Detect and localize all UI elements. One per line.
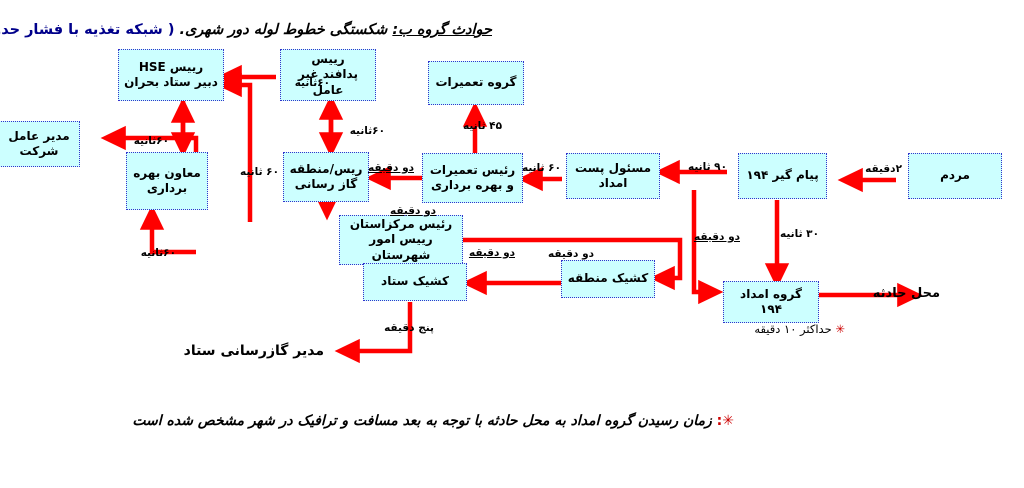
node-province-line1: رئیس مرکزاستان	[342, 217, 460, 232]
diagram-canvas: حوادث گروه ب: شکستگی خطوط لوله دور شهری.…	[0, 0, 1024, 488]
duration-province-to-region-duty: دو دقیقه	[469, 247, 515, 259]
node-repair-group-line1: گروه تعمیرات	[435, 75, 516, 90]
arrow-province-to-deputy	[152, 210, 196, 252]
node-md-line2: شرکت	[8, 144, 69, 159]
node-relief-team[interactable]: گروه امداد ۱۹۴	[723, 281, 819, 323]
title-middle: شکستگی خطوط لوله دور شهری.	[174, 22, 392, 38]
node-hse[interactable]: رییس HSE دبیر ستاد بحران	[118, 49, 224, 101]
node-padafand[interactable]: رییس پدافند غیر عامل	[280, 49, 376, 101]
duration-deputy-to-md: ۶۰ثانیه	[134, 135, 169, 147]
node-region-gas-line2: گاز رسانی	[290, 177, 363, 192]
node-province-line2: ریيس امور شهرستان	[342, 232, 460, 263]
node-region-duty[interactable]: كشيک منطقه	[561, 260, 655, 298]
node-answering-machine[interactable]: پیام گیر ۱۹۴	[738, 153, 827, 199]
duration-province-to-deputy: ۶۰ثانیه	[141, 247, 176, 259]
node-hse-line2: دبیر ستاد بحران	[124, 75, 218, 90]
note-max-time: ✳ حداکثر ۱۰ دقیقه	[754, 322, 845, 336]
node-relief-team-line1: گروه امداد	[740, 287, 802, 302]
node-repair-ops-line2: و بهره برداری	[430, 178, 515, 193]
duration-answering-to-relief-team: ۳۰ ثانیه	[780, 228, 819, 240]
node-deputy-line2: برداری	[133, 181, 201, 196]
arrow-province-to-hse	[222, 85, 250, 222]
node-province-city-chief[interactable]: رئیس مرکزاستان ریيس امور شهرستان	[339, 215, 463, 265]
node-deputy-line1: معاون بهره	[133, 166, 201, 181]
node-hq-duty[interactable]: كشيک ستاد	[363, 263, 467, 301]
footer-asterisk-icon: ✳:	[717, 413, 734, 429]
duration-region-duty-to-hq-duty: دو دقیقه	[548, 248, 594, 260]
node-people-line1: مردم	[940, 168, 970, 183]
duration-region-gas-to-padafand: ۶۰ثانیه	[350, 125, 385, 137]
duration-padafand-to-hse: ۶۰ثانیه	[295, 77, 330, 89]
node-relief-post-line2: امداد	[575, 176, 651, 191]
node-region-gas-line1: ریس/منطقه	[290, 162, 363, 177]
title-lead: حوادث گروه ب:	[392, 22, 492, 38]
duration-region-gas-to-province-side: ۶۰ ثانیه	[240, 166, 279, 178]
node-deputy-operations[interactable]: معاون بهره برداری	[126, 152, 208, 210]
duration-people-to-answering: ۲دقیقه	[865, 163, 902, 175]
node-answering-line1: پیام گیر ۱۹۴	[746, 168, 818, 183]
duration-repair-ops-to-region-gas: دو دقیقه	[368, 162, 414, 174]
duration-relief-post-to-repair-ops: ۶۰ ثانیه	[522, 162, 561, 174]
asterisk-icon: ✳	[835, 322, 845, 336]
node-managing-director[interactable]: مدیر عامل شرکت	[0, 121, 80, 167]
node-hse-line1: رییس HSE	[124, 60, 218, 75]
node-people[interactable]: مردم	[908, 153, 1002, 199]
node-relief-team-line2: ۱۹۴	[740, 302, 802, 317]
title-accent: ( شبکه تغذیه با فشار حدود 250psi )	[0, 22, 174, 38]
duration-relief-post-to-relief-team: دو دقیقه	[694, 231, 740, 243]
node-hq-gas-manager: مدیر گازرسانی ستاد	[184, 343, 324, 359]
duration-hq-duty-to-manager: پنج دقیقه	[384, 322, 434, 334]
node-md-line1: مدیر عامل	[8, 129, 69, 144]
footer-note: ✳: زمان رسیدن گروه امداد به محل حادثه با…	[132, 413, 734, 429]
node-hq-duty-line1: كشيک ستاد	[381, 274, 449, 289]
footer-note-text: زمان رسیدن گروه امداد به محل حادثه با تو…	[132, 413, 716, 429]
node-padafand-line1: رییس	[283, 52, 373, 67]
node-relief-post-officer[interactable]: مسئول پست امداد	[566, 153, 660, 199]
node-relief-post-line1: مسئول پست	[575, 161, 651, 176]
note-max-time-text: حداکثر ۱۰ دقیقه	[754, 322, 831, 336]
node-region-gas-chief[interactable]: ریس/منطقه گاز رسانی	[283, 152, 369, 202]
duration-repair-ops-to-repair-group: ۴۵ ثانیه	[463, 120, 502, 132]
node-repair-ops-chief[interactable]: رئیس تعمیرات و بهره برداری	[422, 153, 523, 203]
node-repair-group[interactable]: گروه تعمیرات	[428, 61, 524, 105]
duration-answering-to-relief-post: ۹۰ ثانیه	[688, 161, 727, 173]
node-repair-ops-line1: رئیس تعمیرات	[430, 163, 515, 178]
diagram-title: حوادث گروه ب: شکستگی خطوط لوله دور شهری.…	[0, 22, 492, 38]
duration-repair-ops-down: دو دقیقه	[390, 205, 436, 217]
node-accident-site: محل حادثه	[873, 286, 940, 301]
node-region-duty-line1: كشيک منطقه	[568, 271, 648, 286]
